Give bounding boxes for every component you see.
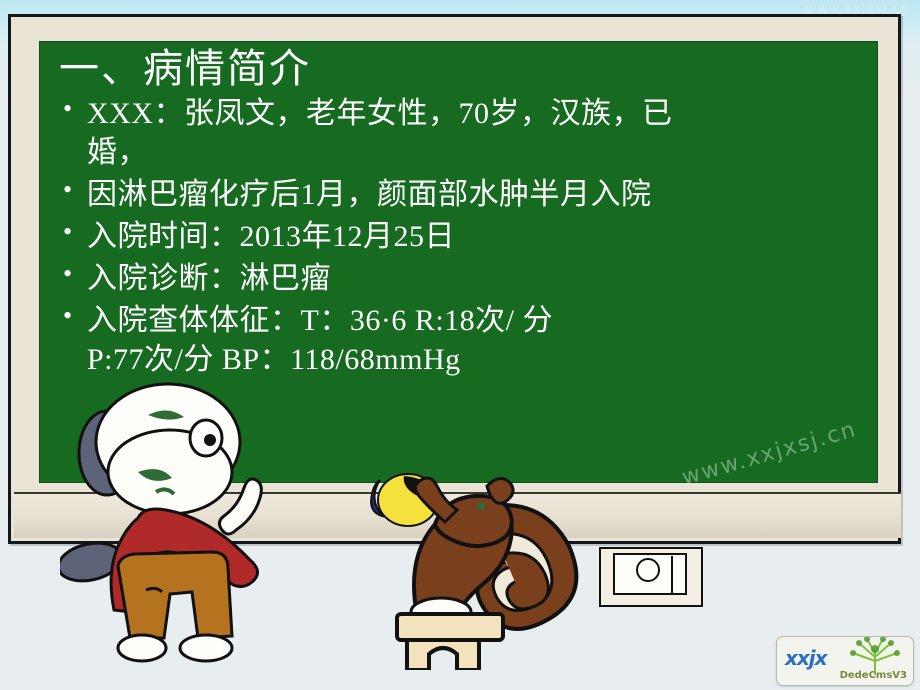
bullet-line: 因淋巴瘤化疗后1月，颜面部水肿半月入院 — [87, 175, 868, 214]
bullet-line: XXX：张凤文，老年女性，70岁，汉族，已 — [87, 94, 868, 133]
logo-subtext: DedeCmsV3 — [840, 670, 907, 681]
panda-character-illustration — [60, 380, 310, 670]
list-item: 入院时间：2013年12月25日 — [59, 217, 868, 256]
slide-canvas: www.xxjxsj.cn 一、病情简介 XXX：张凤文，老年女性，70岁，汉族… — [0, 0, 920, 690]
list-item: 入院诊断：淋巴瘤 — [59, 259, 868, 298]
site-logo-badge[interactable]: xxjx DedeCmsV3 — [776, 636, 912, 684]
logo-box: xxjx DedeCmsV3 — [776, 636, 914, 686]
page-title: 一、病情简介 — [59, 47, 868, 92]
list-item: 入院查体体征：T：36·6 R:18次/ 分 P:77次/分 BP：118/68… — [59, 301, 868, 379]
bullet-line: P:77次/分 BP：118/68mmHg — [87, 340, 868, 379]
list-item: 因淋巴瘤化疗后1月，颜面部水肿半月入院 — [59, 175, 868, 214]
squirrel-character-illustration — [375, 462, 590, 670]
list-item: XXX：张凤文，老年女性，70岁，汉族，已 婚， — [59, 94, 868, 172]
bullet-line: 入院时间：2013年12月25日 — [87, 217, 868, 256]
bullet-line: 入院查体体征：T：36·6 R:18次/ 分 — [87, 301, 868, 340]
logo-text: xxjx — [785, 646, 827, 670]
pail-illustration — [596, 542, 706, 610]
bullet-line: 入院诊断：淋巴瘤 — [87, 259, 868, 298]
bullet-line: 婚， — [87, 133, 868, 172]
bullet-list: XXX：张凤文，老年女性，70岁，汉族，已 婚， 因淋巴瘤化疗后1月，颜面部水肿… — [53, 94, 868, 379]
